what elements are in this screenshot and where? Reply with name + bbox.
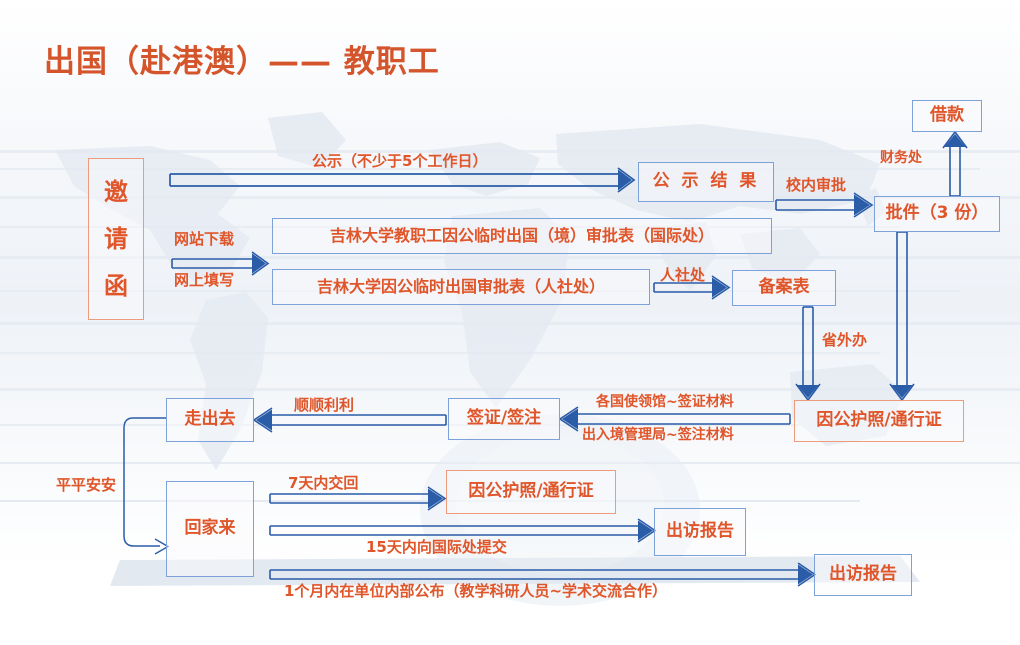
invitation-char-3: 函 bbox=[104, 271, 128, 301]
node-form-international-label: 吉林大学教职工因公临时出国（境）审批表（国际处） bbox=[330, 226, 714, 246]
invitation-char-1: 邀 bbox=[104, 177, 128, 207]
node-publicity-result[interactable]: 公 示 结 果 bbox=[638, 162, 774, 202]
node-visit-report-2-label: 出访报告 bbox=[829, 564, 897, 585]
arrow-publicity bbox=[170, 168, 634, 192]
arrow-finance-loan bbox=[943, 132, 967, 196]
edge-label-publicity: 公示（不少于5个工作日） bbox=[312, 152, 487, 170]
node-approval-docs[interactable]: 批件（3 份） bbox=[874, 196, 1000, 232]
edge-label-submit-15days: 15天内向国际处提交 bbox=[366, 538, 507, 556]
arrow-campus-approval bbox=[776, 193, 872, 217]
edge-label-online-fill: 网上填写 bbox=[174, 271, 234, 289]
edge-label-embassy-visa-materials: 各国使领馆~签证材料 bbox=[596, 394, 734, 411]
node-approval-docs-label: 批件（3 份） bbox=[886, 203, 989, 224]
node-visit-report-1[interactable]: 出访报告 bbox=[654, 508, 746, 556]
node-visit-report-2[interactable]: 出访报告 bbox=[814, 554, 912, 596]
node-visa[interactable]: 签证/签注 bbox=[448, 398, 560, 440]
node-visa-label: 签证/签注 bbox=[467, 408, 541, 429]
edge-label-exit-entry-materials: 出入境管理局~签注材料 bbox=[582, 427, 734, 444]
node-come-home-label: 回家来 bbox=[185, 518, 236, 539]
node-loan-label: 借款 bbox=[930, 105, 964, 126]
edge-label-website-download: 网站下载 bbox=[174, 230, 234, 248]
node-go-abroad[interactable]: 走出去 bbox=[166, 398, 254, 442]
node-passport-return[interactable]: 因公护照/通行证 bbox=[446, 470, 616, 514]
node-passport-return-label: 因公护照/通行证 bbox=[468, 481, 593, 502]
edge-label-safe-and-sound: 平平安安 bbox=[56, 476, 116, 494]
arrow-approval-to-passport bbox=[890, 232, 914, 400]
edge-label-smoothly: 顺顺利利 bbox=[294, 396, 354, 414]
node-publicity-result-label: 公 示 结 果 bbox=[653, 171, 760, 192]
slide-canvas: 出国（赴港澳）—— 教职工 邀 请 函 吉林大学教职工因公临时出国（境）审批表（… bbox=[0, 0, 1020, 645]
edge-label-return-7days: 7天内交回 bbox=[288, 474, 358, 492]
edge-label-finance-office: 财务处 bbox=[880, 150, 922, 167]
node-passport-top-label: 因公护照/通行证 bbox=[816, 410, 941, 431]
node-filing-form[interactable]: 备案表 bbox=[732, 270, 836, 306]
edge-label-hr-office: 人社处 bbox=[660, 266, 705, 284]
node-form-international[interactable]: 吉林大学教职工因公临时出国（境）审批表（国际处） bbox=[272, 218, 772, 254]
edge-label-provincial-foreign-affairs: 省外办 bbox=[822, 331, 867, 349]
page-title: 出国（赴港澳）—— 教职工 bbox=[44, 36, 440, 81]
edge-label-campus-approval: 校内审批 bbox=[786, 176, 846, 194]
connector-arrows bbox=[0, 0, 1020, 645]
node-form-hr[interactable]: 吉林大学因公临时出国审批表（人社处） bbox=[272, 269, 650, 305]
edge-label-publish-1month: 1个月内在单位内部公布（教学科研人员~学术交流合作） bbox=[284, 582, 667, 600]
arrow-provincial-foreign-affairs bbox=[796, 307, 820, 400]
invitation-char-2: 请 bbox=[104, 224, 128, 254]
node-invitation-letter[interactable]: 邀 请 函 bbox=[88, 158, 144, 320]
node-visit-report-1-label: 出访报告 bbox=[666, 521, 734, 542]
arrow-safe-and-sound bbox=[124, 418, 168, 554]
node-filing-form-label: 备案表 bbox=[759, 277, 810, 298]
node-go-abroad-label: 走出去 bbox=[185, 409, 236, 430]
node-form-hr-label: 吉林大学因公临时出国审批表（人社处） bbox=[317, 277, 605, 297]
node-come-home[interactable]: 回家来 bbox=[166, 481, 254, 577]
node-passport-top[interactable]: 因公护照/通行证 bbox=[794, 400, 964, 442]
node-loan[interactable]: 借款 bbox=[912, 100, 982, 132]
